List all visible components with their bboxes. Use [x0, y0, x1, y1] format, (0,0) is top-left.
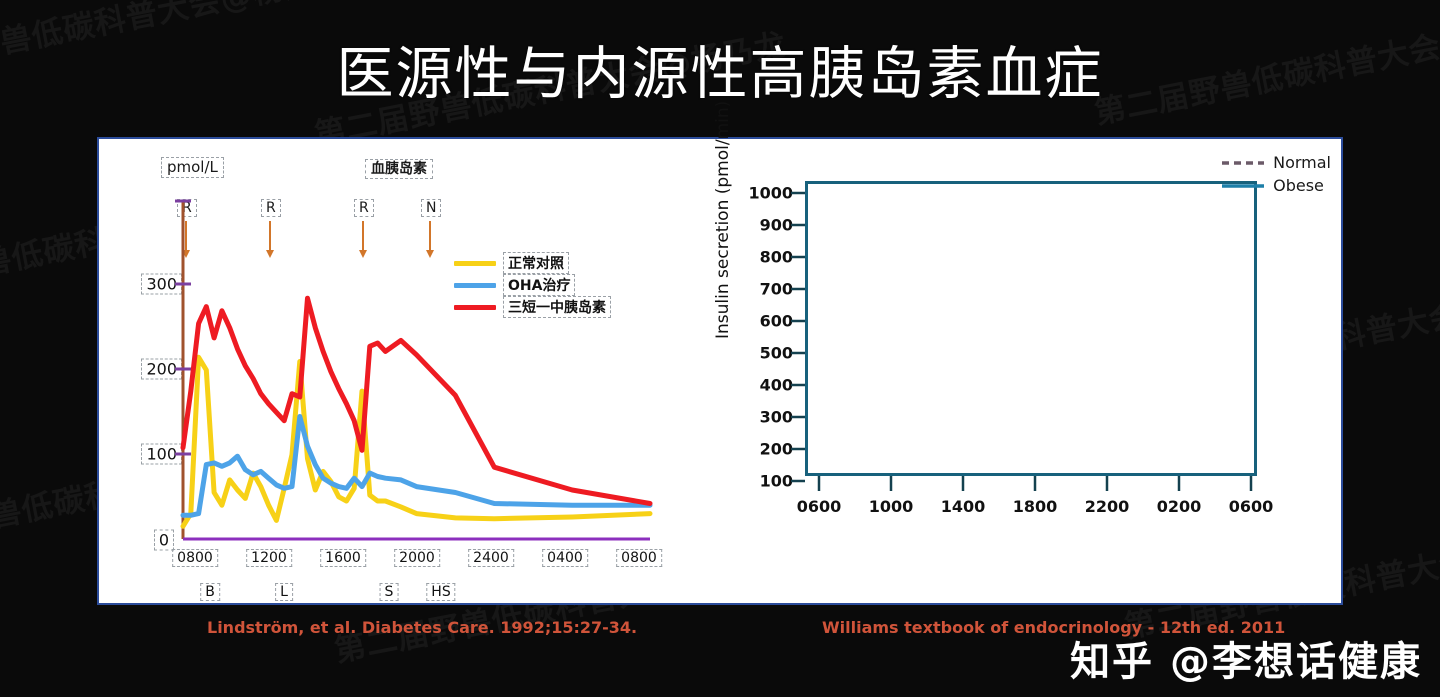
right-xtick-4: 2200 [1085, 497, 1130, 516]
legend-item-normal: Normal [1220, 151, 1331, 174]
right-xtick-6: 0600 [1229, 497, 1274, 516]
right-xtick-2: 1400 [941, 497, 986, 516]
right-chart-legend: Normal Obese [1220, 151, 1331, 197]
left-chart: pmol/L 血胰岛素 R R R N 正常对照 OHA治疗 三短一中胰岛素 [99, 139, 699, 607]
left-xtick-0: 0800 [172, 549, 218, 567]
legend-swatch-solid [1220, 180, 1266, 192]
legend-label: Obese [1273, 176, 1324, 195]
legend-swatch-dashed [1220, 157, 1266, 169]
meal-marker-hs: HS [426, 583, 455, 601]
left-xtick-5: 0400 [542, 549, 588, 567]
meal-marker-s: S [380, 583, 399, 601]
legend-item-obese: Obese [1220, 174, 1331, 197]
legend-label: Normal [1273, 153, 1331, 172]
right-xtick-0: 0600 [797, 497, 842, 516]
right-chart-frame [805, 181, 1257, 476]
zhihu-watermark: 知乎 @李想话健康 [1070, 629, 1422, 687]
left-xtick-2: 1600 [320, 549, 366, 567]
meal-marker-b: B [200, 583, 220, 601]
left-xtick-3: 2000 [394, 549, 440, 567]
right-xtick-1: 1000 [869, 497, 914, 516]
page-title: 医源性与内源性高胰岛素血症 [0, 28, 1440, 110]
left-chart-plot [99, 139, 699, 607]
figure-card: pmol/L 血胰岛素 R R R N 正常对照 OHA治疗 三短一中胰岛素 [97, 137, 1343, 605]
left-citation: Lindström, et al. Diabetes Care. 1992;15… [207, 618, 637, 637]
left-xtick-6: 0800 [616, 549, 662, 567]
right-xtick-5: 0200 [1157, 497, 1202, 516]
meal-marker-l: L [275, 583, 293, 601]
right-chart: Insulin secretion (pmol/min) 1000 900 80… [699, 139, 1345, 607]
left-xtick-1: 1200 [246, 549, 292, 567]
left-xtick-4: 2400 [468, 549, 514, 567]
right-xtick-3: 1800 [1013, 497, 1058, 516]
series-line [183, 417, 650, 516]
